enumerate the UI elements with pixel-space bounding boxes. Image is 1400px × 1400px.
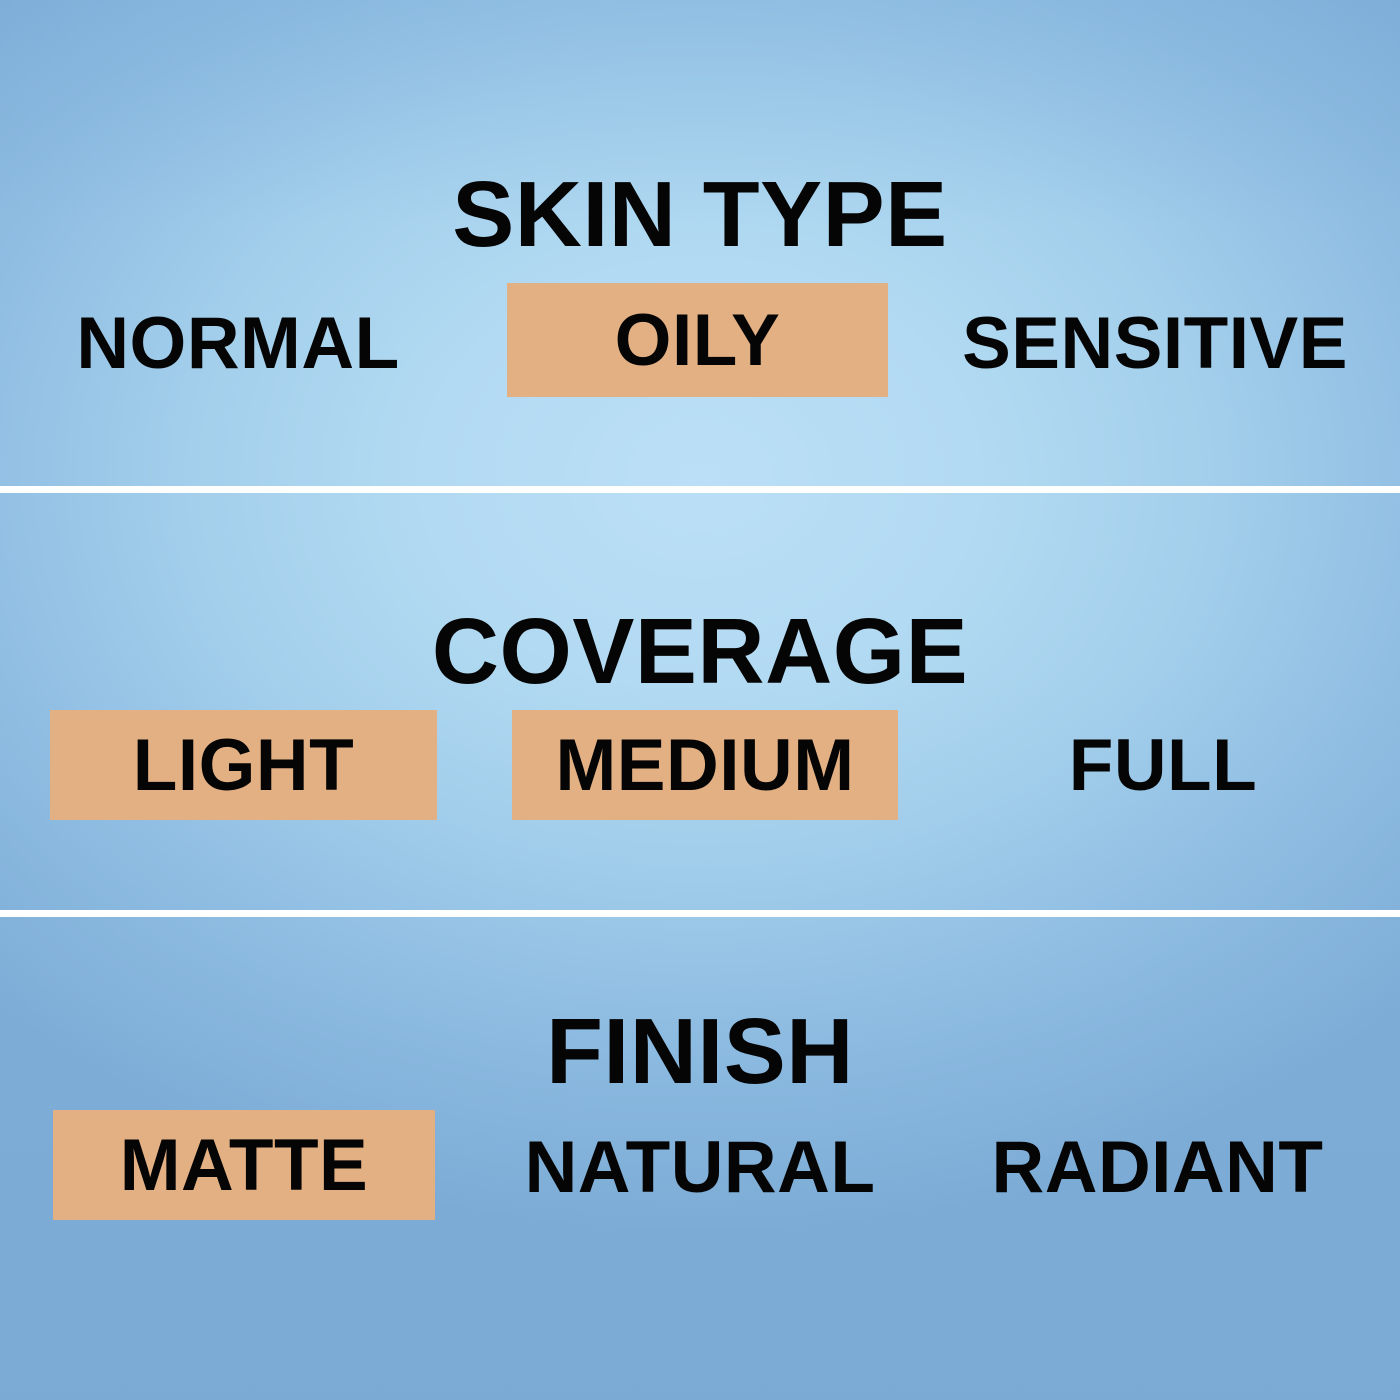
section-heading-finish: FINISH [0, 1005, 1400, 1098]
option-skin-type-normal[interactable]: NORMAL [78, 300, 398, 386]
product-attribute-infographic: SKIN TYPE NORMAL OILY SENSITIVE COVERAGE… [0, 0, 1400, 1400]
option-finish-matte[interactable]: MATTE [53, 1110, 435, 1220]
section-divider [0, 486, 1400, 493]
option-coverage-light[interactable]: LIGHT [50, 710, 437, 820]
section-heading-coverage: COVERAGE [0, 605, 1400, 698]
section-heading-skin-type: SKIN TYPE [0, 168, 1400, 261]
option-coverage-medium[interactable]: MEDIUM [512, 710, 898, 820]
option-skin-type-oily[interactable]: OILY [507, 283, 888, 397]
option-finish-radiant[interactable]: RADIANT [995, 1124, 1320, 1210]
section-divider [0, 910, 1400, 917]
option-skin-type-sensitive[interactable]: SENSITIVE [975, 300, 1335, 386]
option-coverage-full[interactable]: FULL [1063, 722, 1263, 808]
option-finish-natural[interactable]: NATURAL [525, 1124, 875, 1210]
